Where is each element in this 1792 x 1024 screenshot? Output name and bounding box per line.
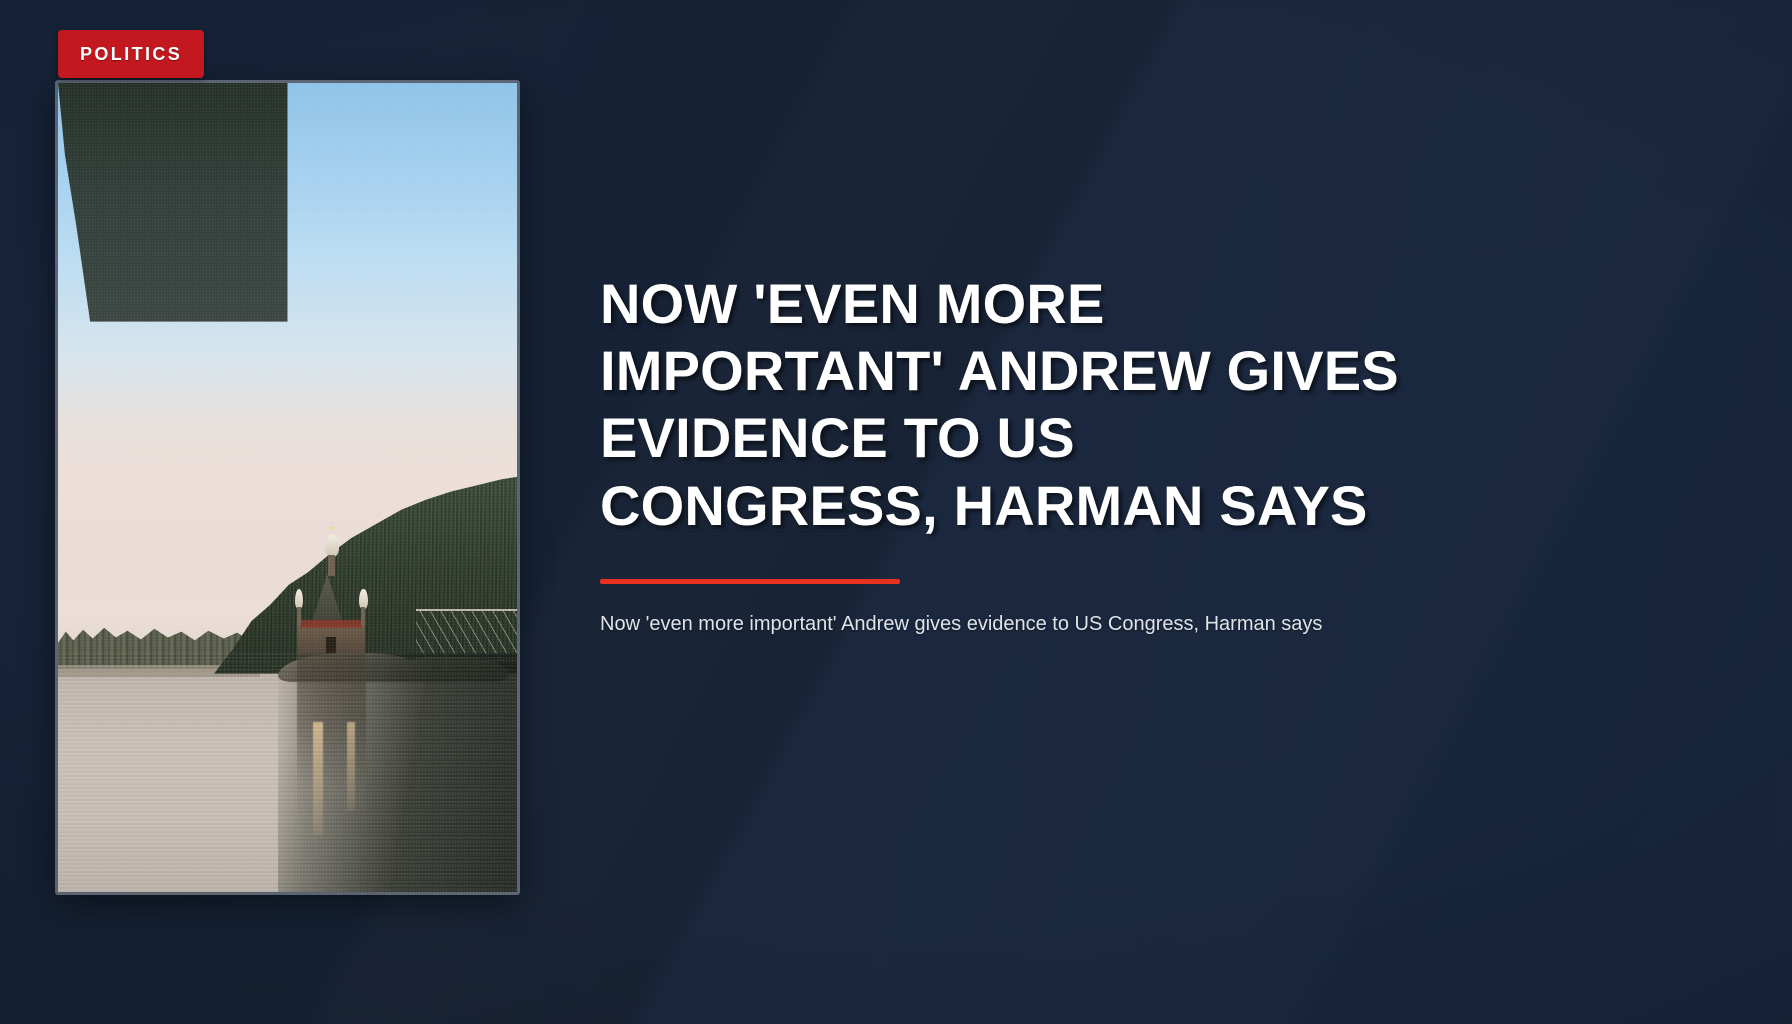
photo-church-dome-right <box>359 589 367 609</box>
photo-church-dome-left <box>295 589 303 609</box>
photo-church-cross-bar-icon <box>329 527 335 529</box>
article-headline: Now 'even more important' Andrew gives e… <box>600 270 1420 539</box>
article-photo <box>58 83 517 892</box>
article-subtitle: Now 'even more important' Andrew gives e… <box>600 610 1420 638</box>
photo-water-ripples <box>58 653 517 892</box>
photo-church-dome-neck-left <box>297 607 301 626</box>
article-text-column: Now 'even more important' Andrew gives e… <box>600 270 1420 658</box>
accent-divider <box>600 579 900 584</box>
article-photo-frame[interactable] <box>55 80 520 895</box>
photo-church-dome-neck-center <box>328 555 335 577</box>
photo-reflection-forest <box>58 83 288 322</box>
photo-church-spire-right <box>358 579 368 626</box>
category-badge[interactable]: POLITICS <box>58 30 204 78</box>
photo-church-dome-center <box>325 534 339 557</box>
photo-church-spire-left <box>294 579 304 626</box>
photo-church <box>292 548 370 665</box>
category-badge-label: POLITICS <box>80 45 182 63</box>
article-hero-card: POLITICS <box>0 0 1792 1024</box>
photo-church-spire-center <box>323 522 340 576</box>
photo-church-trim <box>300 620 362 628</box>
photo-church-dome-neck-right <box>361 607 365 626</box>
